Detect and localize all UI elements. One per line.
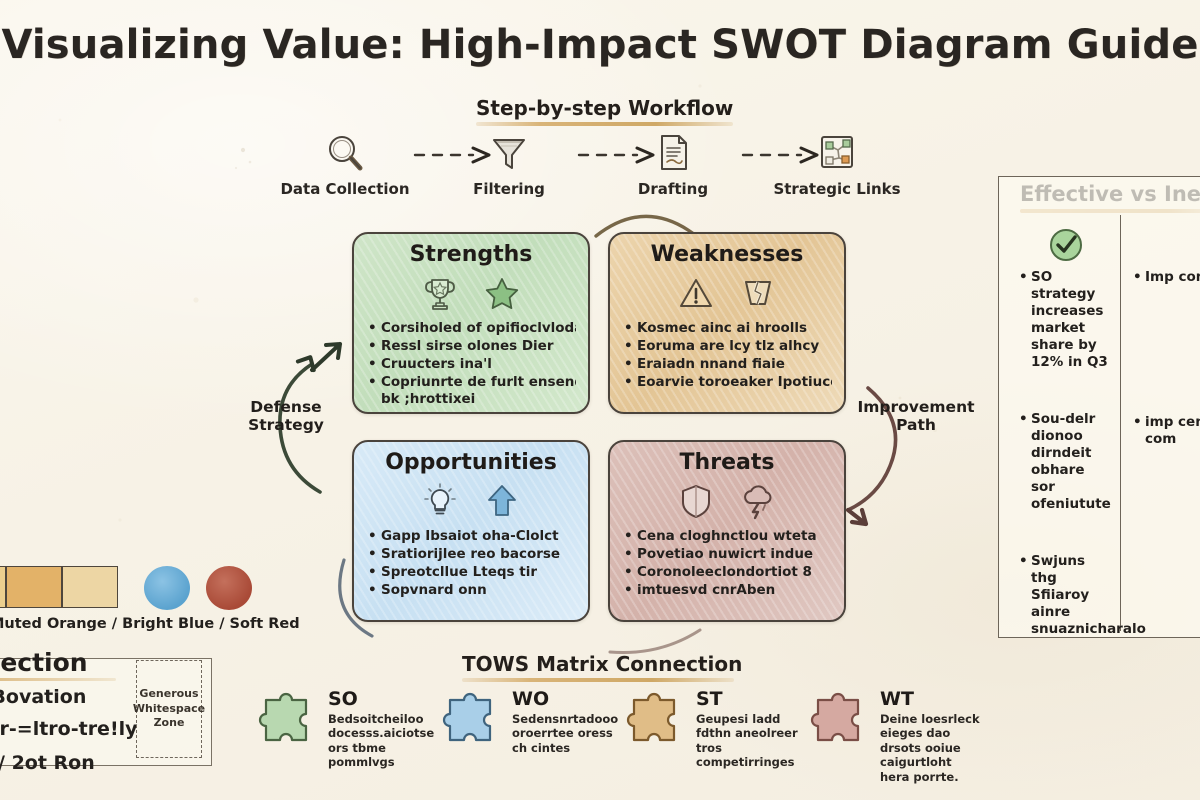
ineffective-icon-placeholder	[1133, 221, 1200, 269]
tows-description: Geupesi ladd fdthn aneolreer tros compet…	[696, 712, 800, 770]
quadrant-icons	[366, 478, 576, 524]
tows-text: ST Geupesi ladd fdthn aneolreer tros com…	[696, 688, 800, 770]
swot-quadrant-opportunities[interactable]: Opportunities Gapp Ibsaiot oha-Clolct	[352, 440, 590, 622]
infographic-canvas: Visualizing Value: High-Impact SWOT Diag…	[0, 0, 1200, 800]
puzzle-piece-icon	[624, 688, 688, 752]
workflow-heading-text: Step-by-step Workflow	[476, 96, 733, 120]
list-item: Eraiadn nnand fiaie	[624, 356, 832, 374]
list-item: Spreotcllue Lteqs tir	[368, 564, 576, 582]
workflow-row: Data Collection Filtering	[275, 130, 915, 210]
heading-underline	[476, 122, 733, 126]
quadrant-item-list: Gapp Ibsaiot oha-Clolct Sratiorijlee reo…	[366, 528, 576, 599]
heading-underline	[462, 678, 734, 682]
page-title: Visualizing Value: High-Impact SWOT Diag…	[0, 22, 1200, 68]
comparison-column-effective: SO strategy increases market share by 12…	[1009, 215, 1121, 631]
list-item: Coronoleeclondortiot 8	[624, 564, 832, 582]
workflow-heading: Step-by-step Workflow	[476, 96, 733, 126]
list-item: Eoarvie toroeaker Ipotiuces	[624, 374, 832, 392]
tows-item-so[interactable]: SO Bedsoitcheiloo docesss.aiciotse ors t…	[256, 688, 432, 770]
workflow-step-label: Data Collection	[275, 180, 415, 198]
legend-heading: ollection	[0, 648, 116, 681]
list-item: Sou-delr dionoo dirndeit obhare sor ofen…	[1019, 411, 1112, 513]
lightbulb-icon	[420, 481, 460, 521]
legend-line: ie / 2ot Ron	[0, 752, 95, 774]
list-item: Kosmec ainc ai hroolls	[624, 320, 832, 338]
list-item: Swjuns thg Sfiiaroy ainre snuaznicharalo	[1019, 553, 1112, 638]
list-item: Povetiao nuwicrt indue	[624, 546, 832, 564]
whitespace-zone-note: Generous Whitespace Zone	[136, 660, 202, 758]
list-item: imtuesvd cnrAben	[624, 582, 832, 600]
list-item: Cruucters ina'l	[368, 356, 576, 374]
comparison-effective-list: SO strategy increases market share by 12…	[1019, 269, 1112, 638]
puzzle-piece-icon	[440, 688, 504, 752]
quadrant-title: Threats	[622, 451, 832, 475]
list-item: Sratiorijlee reo bacorse	[368, 546, 576, 564]
shield-icon	[676, 481, 716, 521]
list-item: Imp com	[1133, 269, 1200, 286]
funnel-icon	[439, 130, 579, 176]
list-item: Gapp Ibsaiot oha-Clolct	[368, 528, 576, 546]
quadrant-title: Weaknesses	[622, 243, 832, 267]
tows-description: Sedensnrtadooo oroerrtee oress ch cintes	[512, 712, 616, 755]
quadrant-item-list: Cena cloghnctlou wteta Povetiao nuwicrt …	[622, 528, 832, 599]
workflow-step-label: Filtering	[439, 180, 579, 198]
swatch-muted-orange	[6, 566, 62, 608]
workflow-step-label: Strategic Links	[767, 180, 907, 198]
workflow-step-filtering[interactable]: Filtering	[439, 130, 579, 198]
legend-line: a Bovation	[0, 686, 86, 708]
tows-code: WO	[512, 690, 616, 709]
list-item: Cena cloghnctlou wteta	[624, 528, 832, 546]
check-circle-icon	[1019, 221, 1112, 269]
workflow-step-drafting[interactable]: Drafting	[603, 130, 743, 198]
quadrant-overflow-text: bk ;hrottixei	[366, 391, 576, 409]
warning-triangle-icon	[676, 273, 716, 313]
color-swatch-row	[0, 566, 204, 610]
swot-quadrant-strengths[interactable]: Strengths	[352, 232, 590, 414]
legend-line: Aar-=ltro-tre!ly	[0, 718, 138, 740]
quadrant-title: Opportunities	[366, 451, 576, 475]
comparison-column-ineffective: Imp com imp cenr com	[1123, 215, 1200, 631]
list-item: Eoruma are lcy tlz alhcy	[624, 338, 832, 356]
tows-item-st[interactable]: ST Geupesi ladd fdthn aneolreer tros com…	[624, 688, 800, 770]
list-item: Ressl sirse olones Dier	[368, 338, 576, 356]
tows-text: SO Bedsoitcheiloo docesss.aiciotse ors t…	[328, 688, 432, 770]
swatch-bright-blue	[144, 566, 190, 610]
list-item: Sopvnard onn	[368, 582, 576, 600]
quadrant-title: Strengths	[366, 243, 576, 267]
comparison-ineffective-list: Imp com imp cenr com	[1133, 269, 1200, 448]
tows-heading: TOWS Matrix Connection	[462, 652, 742, 682]
tows-description: Deine loesrleck eieges dao drsots ooiue …	[880, 712, 984, 784]
storm-cloud-icon	[738, 481, 778, 521]
quadrant-icons	[622, 478, 832, 524]
workflow-step-data-collection[interactable]: Data Collection	[275, 130, 415, 198]
magnifier-icon	[275, 130, 415, 176]
tows-text: WO Sedensnrtadooo oroerrtee oress ch cin…	[512, 688, 616, 755]
tows-description: Bedsoitcheiloo docesss.aiciotse ors tbme…	[328, 712, 432, 770]
swot-matrix: Strengths	[352, 232, 846, 622]
network-graph-icon	[767, 130, 907, 176]
list-item: imp cenr com	[1133, 414, 1200, 448]
up-arrow-icon	[482, 481, 522, 521]
quadrant-icons	[622, 270, 832, 316]
list-item: Copriunrte de furlt ensend	[368, 374, 576, 392]
trophy-icon	[420, 273, 460, 313]
broken-piece-icon	[738, 273, 778, 313]
legend-heading-text: ollection	[0, 648, 88, 677]
tows-text: WT Deine loesrleck eieges dao drsots ooi…	[880, 688, 984, 784]
workflow-step-label: Drafting	[603, 180, 743, 198]
star-icon	[482, 273, 522, 313]
connector-label-defense-strategy: Defense Strategy	[238, 398, 334, 435]
quadrant-item-list: Kosmec ainc ai hroolls Eoruma are lcy tl…	[622, 320, 832, 391]
tows-heading-text: TOWS Matrix Connection	[462, 652, 742, 676]
tows-code: ST	[696, 690, 800, 709]
connector-label-improvement-path: Improvement Path	[856, 398, 976, 435]
tows-item-wo[interactable]: WO Sedensnrtadooo oroerrtee oress ch cin…	[440, 688, 616, 755]
list-item: Corsiholed of opifioclvloda	[368, 320, 576, 338]
swot-quadrant-threats[interactable]: Threats Cena cloghnctlou w	[608, 440, 846, 622]
comparison-panel: SO strategy increases market share by 12…	[998, 176, 1200, 638]
swatch-soft-red	[206, 566, 252, 610]
swatch-caption: Muted Orange / Bright Blue / Soft Red	[0, 616, 260, 632]
tows-row: SO Bedsoitcheiloo docesss.aiciotse ors t…	[250, 688, 1200, 788]
workflow-step-strategic-links[interactable]: Strategic Links	[767, 130, 907, 198]
quadrant-icons	[366, 270, 576, 316]
swatch-muted-orange-pale	[62, 566, 118, 608]
heading-underline	[0, 678, 116, 681]
list-item: SO strategy increases market share by 12…	[1019, 269, 1112, 371]
puzzle-piece-icon	[256, 688, 320, 752]
tows-code: WT	[880, 690, 984, 709]
document-icon	[603, 130, 743, 176]
tows-item-wt[interactable]: WT Deine loesrleck eieges dao drsots ooi…	[808, 688, 984, 784]
quadrant-item-list: Corsiholed of opifioclvloda Ressl sirse …	[366, 320, 576, 391]
puzzle-piece-icon	[808, 688, 872, 752]
swot-quadrant-weaknesses[interactable]: Weaknesses Ko	[608, 232, 846, 414]
tows-code: SO	[328, 690, 432, 709]
